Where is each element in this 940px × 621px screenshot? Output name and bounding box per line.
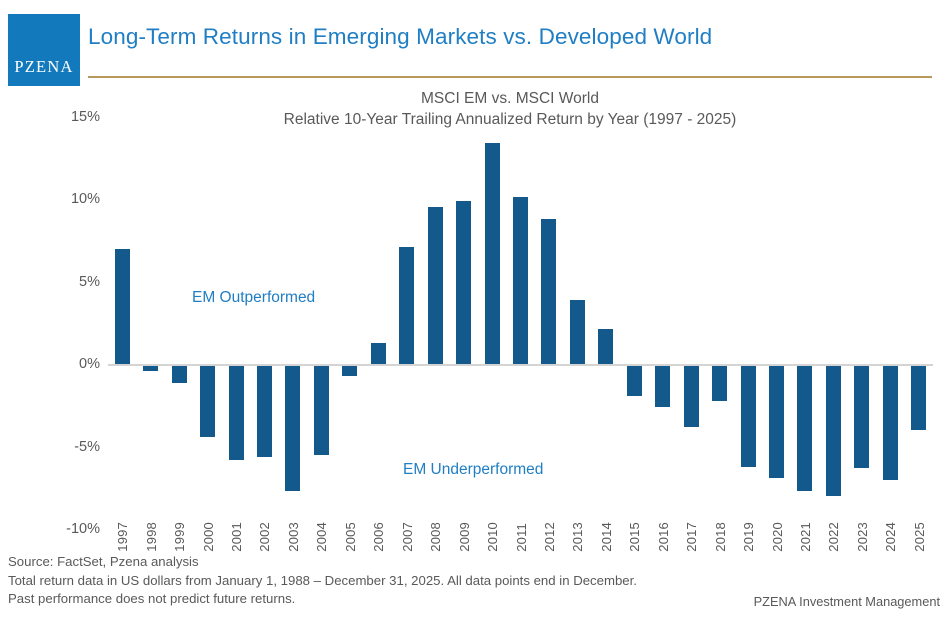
- bar-2019[interactable]: [741, 366, 756, 467]
- x-axis-tick-2005: 2005: [343, 522, 357, 552]
- bar-2023[interactable]: [854, 366, 869, 468]
- y-axis: 15%10%5%0%-5%-10%: [44, 110, 100, 530]
- bar-2014[interactable]: [598, 329, 613, 364]
- x-axis-tick-2016: 2016: [656, 522, 670, 552]
- x-axis-tick-2004: 2004: [314, 522, 328, 552]
- bar-2000[interactable]: [200, 366, 215, 437]
- x-axis-tick-2003: 2003: [286, 522, 300, 552]
- x-axis-tick-2023: 2023: [855, 522, 869, 552]
- bar-2024[interactable]: [883, 366, 898, 480]
- annotation-em-underperformed: EM Underperformed: [403, 461, 543, 479]
- chart-title-line1: MSCI EM vs. MSCI World: [110, 88, 910, 109]
- x-axis-tick-2008: 2008: [428, 522, 442, 552]
- bar-2017[interactable]: [684, 366, 699, 427]
- bar-2001[interactable]: [229, 366, 244, 460]
- bar-1997[interactable]: [115, 249, 130, 365]
- bar-2003[interactable]: [285, 366, 300, 491]
- x-axis-tick-2013: 2013: [570, 522, 584, 552]
- bar-2015[interactable]: [627, 366, 642, 396]
- bar-1999[interactable]: [172, 366, 187, 383]
- y-axis-tick-neg10: -10%: [48, 521, 100, 537]
- x-axis-tick-2017: 2017: [684, 522, 698, 552]
- bar-2018[interactable]: [712, 366, 727, 401]
- x-axis-tick-2020: 2020: [770, 522, 784, 552]
- pzena-logo: PZENA: [8, 14, 80, 86]
- x-axis-tick-1997: 1997: [115, 522, 129, 552]
- x-axis-tick-1998: 1998: [144, 522, 158, 552]
- x-axis-tick-2021: 2021: [798, 522, 812, 552]
- bar-2002[interactable]: [257, 366, 272, 457]
- bar-2020[interactable]: [769, 366, 784, 478]
- bar-2009[interactable]: [456, 201, 471, 364]
- y-axis-tick-0: 0%: [48, 356, 100, 372]
- x-axis-tick-2018: 2018: [713, 522, 727, 552]
- x-axis-tick-2001: 2001: [229, 522, 243, 552]
- bar-2006[interactable]: [371, 343, 386, 364]
- y-axis-tick-5: 5%: [48, 274, 100, 290]
- bar-2021[interactable]: [797, 366, 812, 491]
- annotation-em-outperformed: EM Outperformed: [192, 289, 315, 307]
- y-axis-tick-15: 15%: [48, 109, 100, 125]
- x-axis-tick-2022: 2022: [826, 522, 840, 552]
- x-axis-tick-2024: 2024: [883, 522, 897, 552]
- footnote-data-note: Total return data in US dollars from Jan…: [8, 572, 932, 591]
- x-axis-tick-2007: 2007: [400, 522, 414, 552]
- x-axis: 1997199819992000200120022003200420052006…: [108, 492, 933, 552]
- bar-2016[interactable]: [655, 366, 670, 407]
- bar-2025[interactable]: [911, 366, 926, 430]
- bar-2012[interactable]: [541, 219, 556, 364]
- x-axis-tick-2010: 2010: [485, 522, 499, 552]
- bar-2011[interactable]: [513, 197, 528, 364]
- x-axis-tick-2025: 2025: [912, 522, 926, 552]
- bar-2004[interactable]: [314, 366, 329, 455]
- x-axis-tick-2000: 2000: [201, 522, 215, 552]
- logo-wordmark: PZENA: [14, 57, 73, 86]
- bar-2008[interactable]: [428, 207, 443, 364]
- footnote-source: Source: FactSet, Pzena analysis: [8, 553, 932, 572]
- x-axis-tick-2009: 2009: [457, 522, 471, 552]
- page-title: Long-Term Returns in Emerging Markets vs…: [88, 24, 712, 50]
- title-divider: [88, 76, 932, 78]
- x-axis-tick-2006: 2006: [371, 522, 385, 552]
- x-axis-tick-2014: 2014: [599, 522, 613, 552]
- x-axis-tick-2002: 2002: [257, 522, 271, 552]
- x-axis-tick-2019: 2019: [741, 522, 755, 552]
- bar-2007[interactable]: [399, 247, 414, 364]
- firm-name: PZENA Investment Management: [640, 594, 940, 609]
- bar-2010[interactable]: [485, 143, 500, 364]
- x-axis-tick-1999: 1999: [172, 522, 186, 552]
- bar-2022[interactable]: [826, 366, 841, 496]
- slide-header: PZENA Long-Term Returns in Emerging Mark…: [0, 0, 940, 88]
- bar-2005[interactable]: [342, 366, 357, 376]
- bar-2013[interactable]: [570, 300, 585, 364]
- y-axis-tick-10: 10%: [48, 191, 100, 207]
- y-axis-tick-neg5: -5%: [48, 439, 100, 455]
- x-axis-tick-2012: 2012: [542, 522, 556, 552]
- x-axis-tick-2011: 2011: [514, 523, 528, 552]
- bar-1998[interactable]: [143, 366, 158, 371]
- x-axis-tick-2015: 2015: [627, 522, 641, 552]
